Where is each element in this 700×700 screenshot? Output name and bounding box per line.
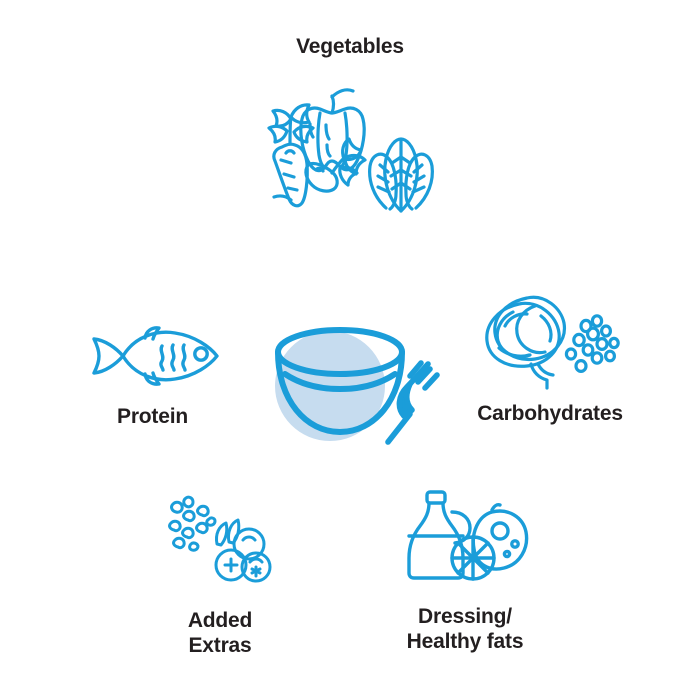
segment-carbohydrates: Carbohydrates [450,288,650,426]
bowl-and-fork-icon [258,316,442,446]
spinach-leaves-icon [370,139,433,211]
segment-label-vegetables: Vegetables [215,34,485,59]
oil-bottle-icon [409,492,470,578]
carbohydrates-icon-wrap [450,288,650,393]
carrot-icon [269,105,365,206]
added-extras-icon-wrap [130,492,310,584]
segment-label-added-extras: Added Extras [130,608,310,658]
segment-label-dressing-healthy-fats: Dressing/ Healthy fats [375,604,555,654]
center-bowl [258,316,442,446]
dressing-healthy-fats-icon-wrap [375,488,555,584]
seeds-icon [170,497,215,550]
vegetables-icon-wrap [215,69,485,219]
lemon-half-icon [452,537,494,579]
segment-added-extras: Added Extras [130,492,310,658]
dressing-healthy-fats-icon [397,488,533,584]
segment-label-protein: Protein [55,404,250,429]
fish-icon-wrap [55,320,250,392]
segment-label-carbohydrates: Carbohydrates [450,401,650,426]
added-extras-icon [161,492,279,584]
fish-icon [83,320,223,392]
segment-dressing-healthy-fats: Dressing/ Healthy fats [375,488,555,654]
segment-vegetables: Vegetables [215,34,485,219]
infographic-canvas: Vegetables [0,0,700,700]
vegetables-icon [260,69,440,219]
pasta-noodles-icon [487,297,565,388]
berries-icon [216,520,270,581]
grains-icon [566,316,618,372]
segment-protein: Protein [55,320,250,429]
carbohydrates-icon [475,288,625,393]
